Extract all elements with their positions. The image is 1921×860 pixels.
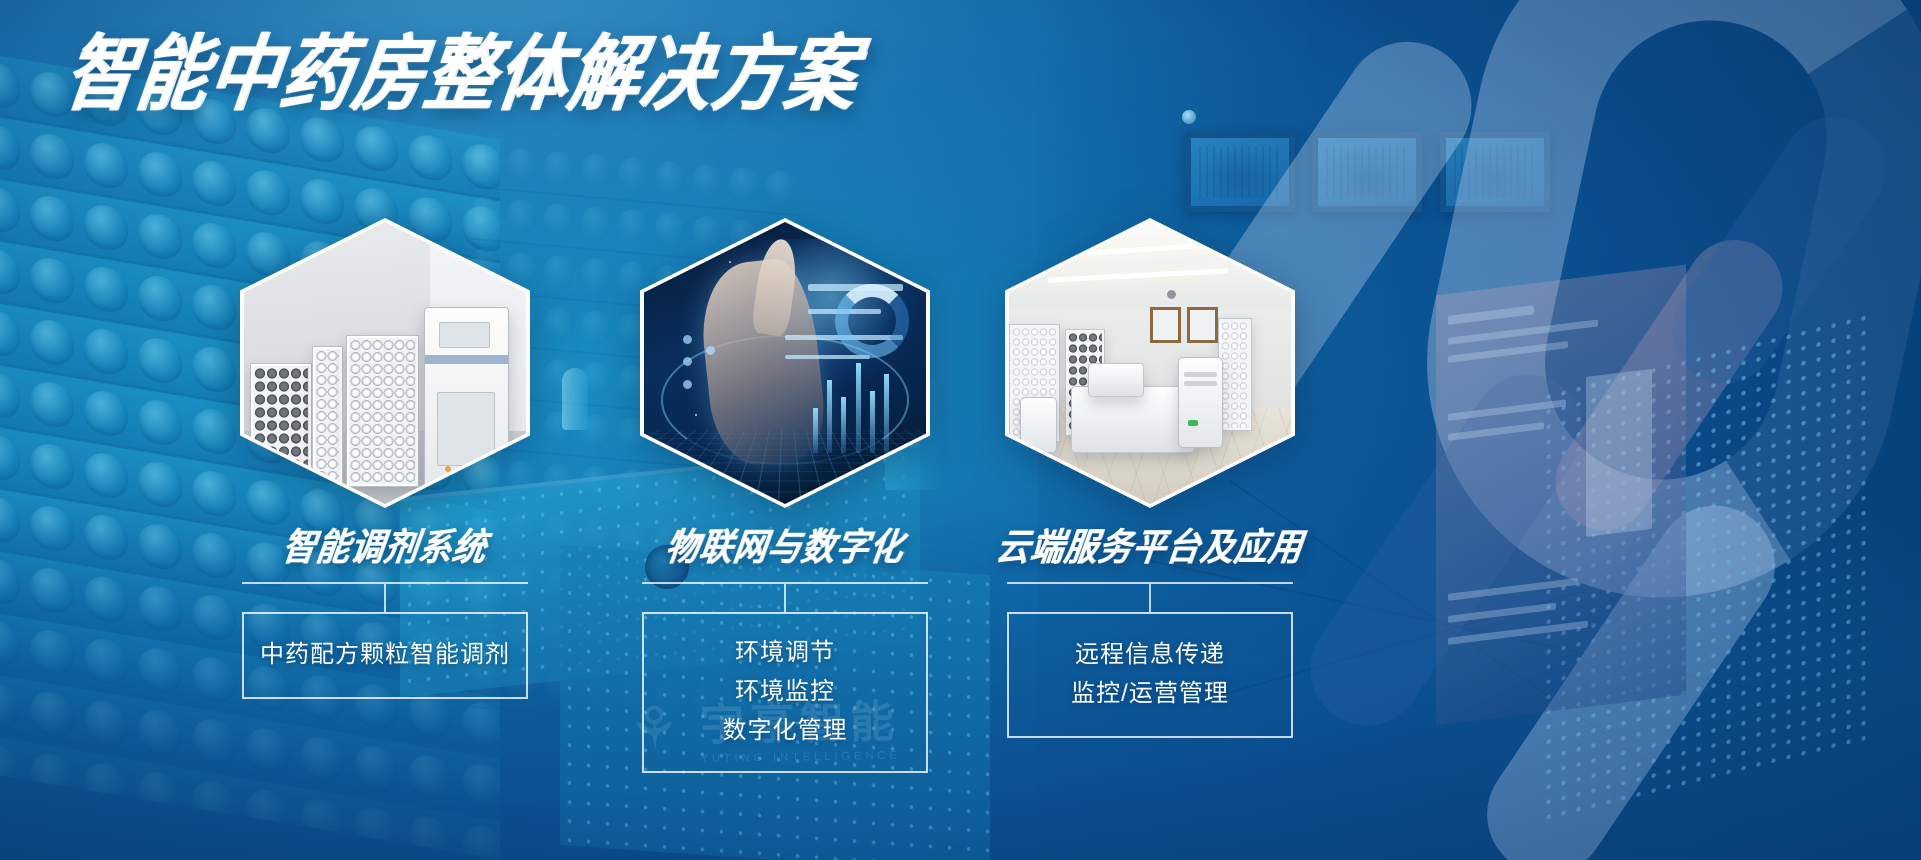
ill3-machine-led [1188,420,1198,426]
ill2-bar-4 [856,363,861,453]
ill2-bar-1 [813,408,818,453]
ill2-bar-2 [827,380,832,453]
hexagon-frame-3 [1005,218,1295,508]
ill2-bar-5 [870,391,875,453]
hexagon-frame-2 [640,218,930,508]
card2-item-0: 环境调节 [654,634,916,673]
illustration-iot-dashboard [644,222,926,504]
card-info-box-1: 中药配方颗粒智能调剂 [242,612,528,699]
card3-item-1: 监控/运营管理 [1019,675,1281,714]
card-iot-digitalization[interactable]: 物联网与数字化 环境调节 环境监控 数字化管理 [620,218,950,773]
ill3-machine-vent-2 [1184,381,1217,386]
ill3-ceiling-camera [1167,290,1176,299]
ill2-bar-3 [841,397,846,453]
ill2-spark-3 [695,414,697,416]
dispensing-machine-photo [244,222,526,504]
card-info-box-2: 环境调节 环境监控 数字化管理 [642,612,928,773]
ill3-wall-picture-1 [1150,307,1181,344]
card3-item-0: 远程信息传递 [1019,636,1281,675]
card-stem-1 [384,584,386,612]
card2-item-2: 数字化管理 [654,712,916,751]
ill3-counter-top [1088,363,1144,397]
ill2-spark-1 [729,261,731,263]
ill3-cabinet-machine [1178,357,1223,447]
ill2-spark-2 [875,256,877,258]
ill2-bar-6 [884,374,889,453]
ill3-machine-vent-1 [1184,372,1217,377]
ill3-wall-picture-2 [1187,307,1218,344]
ill1-cabinet-screen [439,322,490,348]
card-stem-3 [1149,584,1151,612]
card-title-1: 智能调剂系统 [216,517,554,572]
ill1-rack-front [346,335,419,487]
poster-canvas: ⚘ 宇亭智能 YUTING INTELLIGENCE 智能中药房整体解决方案 [0,0,1921,860]
hexagon-frame-1 [240,218,530,508]
card-title-3: 云端服务平台及应用 [981,517,1319,572]
pharmacy-room-photo [1009,222,1291,504]
ill2-node-1 [683,335,692,344]
ill3-ceiling [1009,222,1291,307]
ill1-rack-dark [250,363,312,493]
card-info-box-3: 远程信息传递 监控/运营管理 [1007,612,1293,738]
card-title-2: 物联网与数字化 [616,517,954,572]
ill2-donut-chart [835,284,909,358]
iot-dashboard-photo [644,222,926,504]
card-stem-2 [784,584,786,612]
solution-cards: 智能调剂系统 中药配方颗粒智能调剂 [0,0,1921,860]
card1-item-0: 中药配方颗粒智能调剂 [254,636,516,675]
card2-item-1: 环境监控 [654,673,916,712]
ill1-rack-dark-grid [254,367,308,489]
ill1-status-lamp [445,466,451,472]
ill1-cabinet-handle [425,355,508,364]
card-intelligent-dispensing[interactable]: 智能调剂系统 中药配方颗粒智能调剂 [220,218,550,699]
illustration-pharmacy-room [1009,222,1291,504]
ill1-rack-mid [312,346,343,487]
ill3-shelf-right-grid [1221,321,1249,428]
ill1-rack-mid-grid [316,350,339,483]
ill1-rack-front-grid [350,339,415,483]
illustration-dispensing-room [244,222,526,504]
card-cloud-platform[interactable]: 云端服务平台及应用 远程信息传递 监控/运营管理 [985,218,1315,738]
